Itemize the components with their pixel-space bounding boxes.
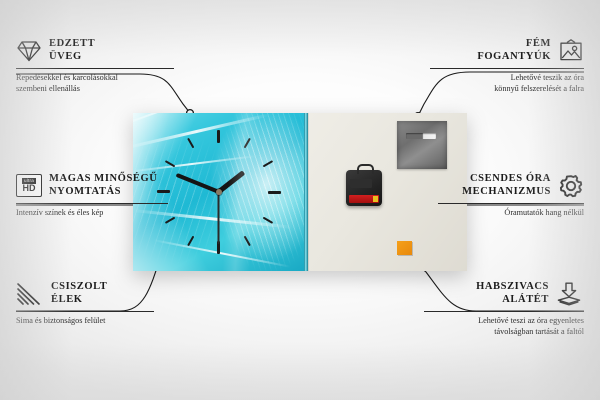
metal-hanger-plate	[397, 121, 447, 169]
ultra-hd-icon: ultra HD	[16, 174, 42, 197]
clock-second-hand	[218, 192, 220, 244]
quartz-mechanism	[346, 170, 382, 206]
feature-title: EDZETT ÜVEG	[49, 38, 95, 63]
divider	[16, 203, 168, 204]
infographic-canvas: EDZETT ÜVEG Repedésekkel és karcolásokka…	[0, 0, 600, 400]
feature-csendes-ora-mechanizmus: CSENDES ÓRA MECHANIZMUS Óramutatók hang …	[438, 173, 584, 219]
gear-icon	[558, 174, 584, 198]
feature-edzett-uveg: EDZETT ÜVEG Repedésekkel és karcolásokka…	[16, 38, 174, 94]
foam-pad-icon	[556, 282, 584, 306]
divider	[16, 311, 154, 312]
divider	[424, 311, 584, 312]
feature-desc: Sima és biztonságos felület	[16, 316, 154, 327]
picture-hanger-icon	[558, 39, 584, 63]
polished-edge-icon	[16, 283, 44, 305]
product-image	[133, 113, 467, 271]
feature-title: CSENDES ÓRA MECHANIZMUS	[462, 173, 551, 198]
feature-desc: Intenzív színek és éles kép	[16, 208, 168, 219]
ultra-hd-main-label: HD	[23, 184, 36, 194]
feature-magas-minosegu-nyomtatas: ultra HD MAGAS MINŐSÉGŰ NYOMTATÁS Intenz…	[16, 173, 168, 219]
feature-desc: Repedésekkel és karcolásokkal szembeni e…	[16, 73, 174, 94]
mechanism-groove	[350, 179, 372, 188]
diamond-icon	[16, 40, 42, 62]
divider	[438, 203, 584, 204]
foam-pad	[397, 241, 412, 255]
feature-desc: Óramutatók hang nélkül	[438, 208, 584, 219]
feature-desc: Lehetővé teszik az óra könnyű felszerelé…	[430, 73, 584, 94]
feature-title: HABSZIVACS ALÁTÉT	[476, 281, 549, 306]
clock-center-cap	[216, 189, 222, 195]
feature-habszivacs-alatet: HABSZIVACS ALÁTÉT Lehetővé teszi az óra …	[424, 281, 584, 337]
feature-title: FÉM FOGANTYÚK	[477, 38, 551, 63]
battery-plus-terminal	[373, 196, 378, 202]
divider	[430, 68, 584, 69]
feature-fem-fogantyuk: FÉM FOGANTYÚK Lehetővé teszik az óra kön…	[430, 38, 584, 94]
feature-title: CSISZOLT ÉLEK	[51, 281, 107, 306]
feature-csiszolt-elek: CSISZOLT ÉLEK Sima és biztonságos felüle…	[16, 281, 154, 327]
mechanism-shaft	[357, 164, 374, 174]
feature-title: MAGAS MINŐSÉGŰ NYOMTATÁS	[49, 173, 157, 198]
battery	[349, 195, 379, 203]
hanger-slot	[406, 133, 436, 139]
feature-desc: Lehetővé teszi az óra egyenletes távolsá…	[424, 316, 584, 337]
divider	[16, 68, 174, 69]
